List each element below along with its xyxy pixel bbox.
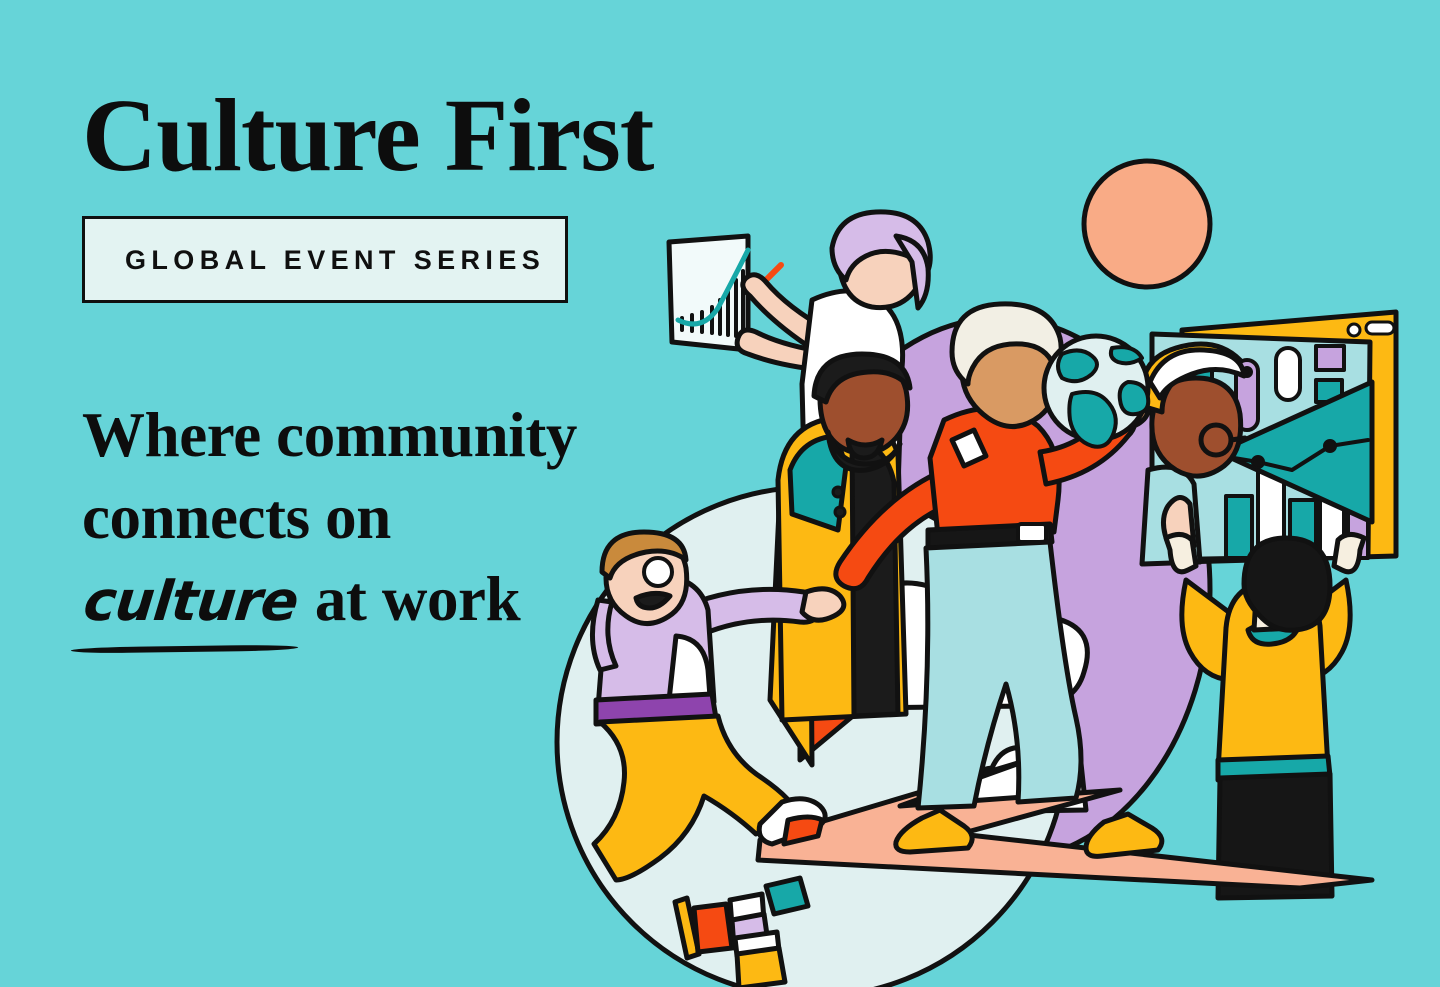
text-column: Culture First GLOBAL EVENT SERIES Where … (82, 86, 742, 641)
tagline-line-2: connects on (82, 477, 742, 559)
status-badge: GLOBAL EVENT SERIES (82, 216, 568, 303)
figure-back-yellow-sweater (1166, 534, 1364, 898)
badge-label: GLOBAL EVENT SERIES (125, 247, 525, 274)
page-title: Culture First (82, 86, 742, 186)
peach-sun-circle (1084, 161, 1210, 287)
tagline: Where community connects on culture at w… (82, 395, 742, 641)
tagline-line-3: culture at work (82, 559, 742, 641)
tagline-line-1: Where community (82, 395, 742, 477)
culture-first-banner: Culture First GLOBAL EVENT SERIES Where … (0, 0, 1440, 987)
tagline-line-3-suffix: at work (299, 564, 520, 634)
tagline-emphasis-culture: culture (78, 566, 303, 638)
